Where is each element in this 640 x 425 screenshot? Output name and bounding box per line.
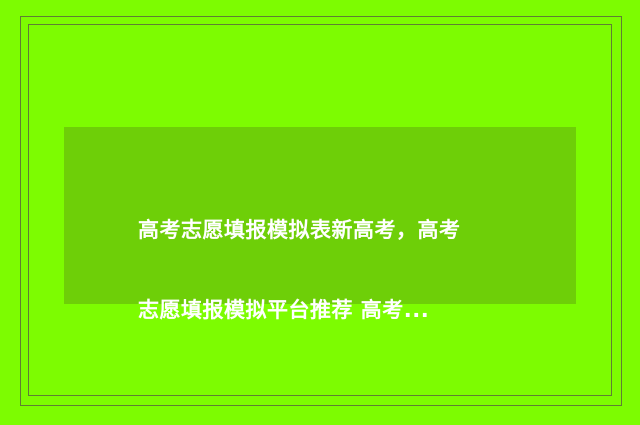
headline-line-1: 高考志愿填报模拟表新高考，高考 (138, 210, 518, 250)
headline-text-block: 高考志愿填报模拟表新高考，高考 志愿填报模拟平台推荐 高考... (138, 170, 518, 370)
headline-line-2: 志愿填报模拟平台推荐 高考... (138, 290, 518, 330)
image-canvas: 高考志愿填报模拟表新高考，高考 志愿填报模拟平台推荐 高考... (0, 0, 640, 425)
